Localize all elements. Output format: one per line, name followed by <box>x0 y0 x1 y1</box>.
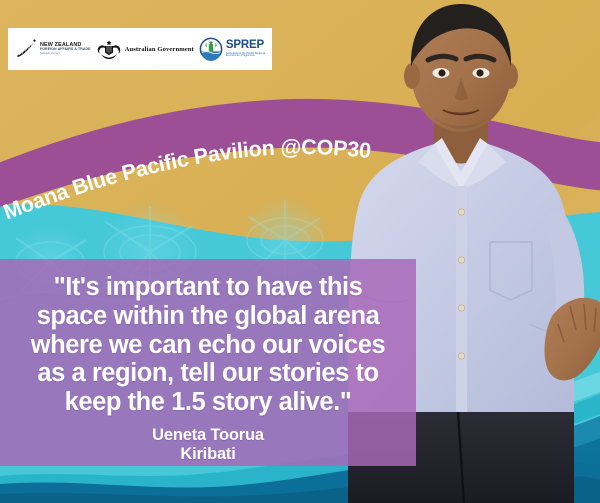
partner-logo-strip: NEW ZEALAND FOREIGN AFFAIRS & TRADE Mana… <box>8 28 272 70</box>
quote-line: as a region, tell our stories to <box>31 359 385 388</box>
speaker-name: Ueneta Toorua <box>152 426 264 444</box>
logo-sprep-subtitle-2: Environment Programme <box>226 55 265 58</box>
quote-line: keep the 1.5 story alive." <box>31 388 385 417</box>
logo-nz-subtitle-maori: Manatū Aorere <box>40 52 91 55</box>
logo-new-zealand-mfat: NEW ZEALAND FOREIGN AFFAIRS & TRADE Mana… <box>15 38 91 60</box>
speaker-country: Kiribati <box>152 445 264 463</box>
quote-line: "It's important to have this <box>31 273 385 302</box>
logo-sprep-name: SPREP <box>226 40 265 52</box>
fern-icon <box>15 38 37 60</box>
quote-line: space within the global arena <box>31 302 385 331</box>
quote-block: "It's important to have this space withi… <box>0 259 416 466</box>
quote-attribution: Ueneta Toorua Kiribati <box>152 426 264 463</box>
sprep-emblem-icon <box>199 37 223 61</box>
coat-of-arms-icon <box>96 38 122 60</box>
head <box>404 4 518 132</box>
social-media-quote-card: NEW ZEALAND FOREIGN AFFAIRS & TRADE Mana… <box>0 0 600 503</box>
logo-australian-government: Australian Government <box>96 38 194 60</box>
quote-text: "It's important to have this space withi… <box>21 273 395 417</box>
quote-line: where we can echo our voices <box>31 331 385 360</box>
logo-sprep: SPREP Secretariat of the Pacific Regiona… <box>199 37 265 61</box>
logo-ausgov-name: Australian Government <box>125 46 194 53</box>
